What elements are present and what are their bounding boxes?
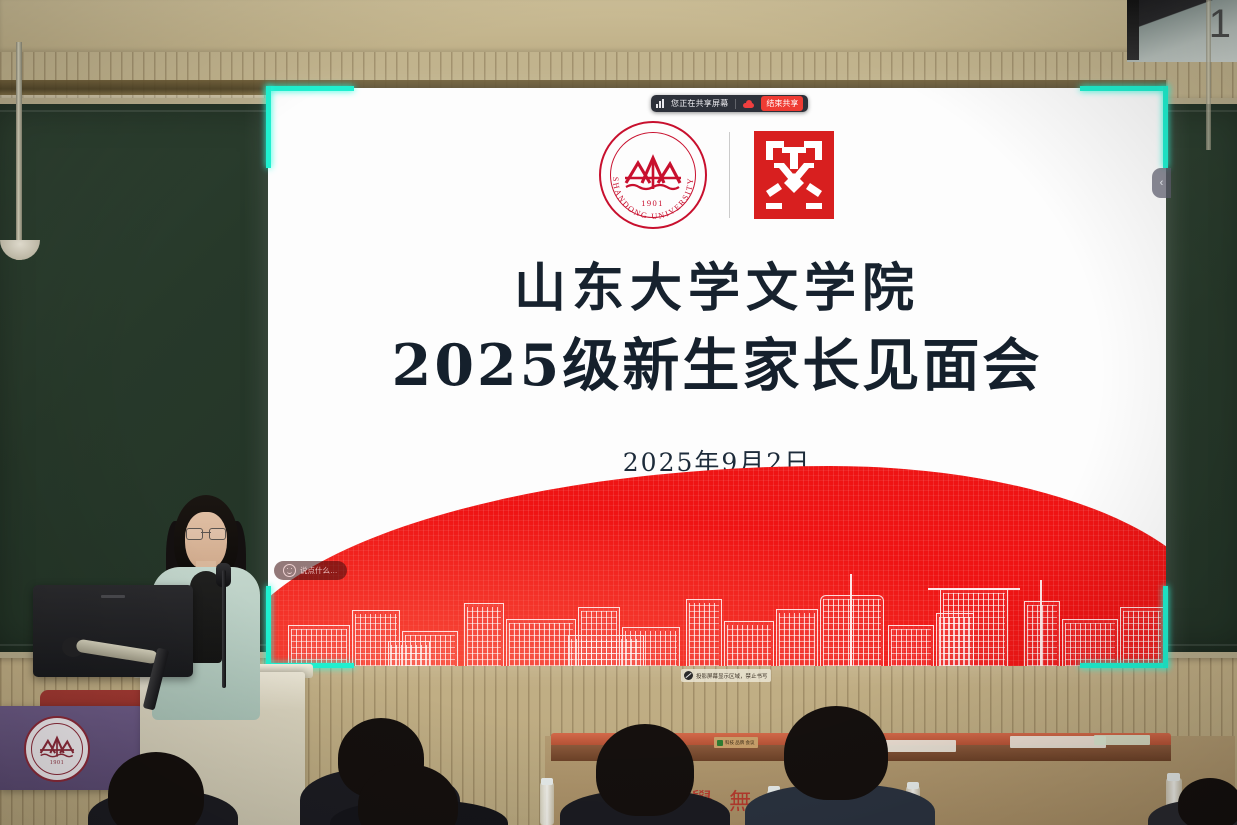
room-number: 1 — [1209, 4, 1231, 44]
bottle-cap — [907, 782, 919, 789]
red-seal-stamp-icon — [752, 129, 836, 221]
microphone-stem — [222, 570, 226, 688]
audience-head — [1178, 778, 1237, 825]
desk-label-text: 科技 品牌 会议 — [725, 740, 755, 746]
ceiling-strip — [1127, 0, 1139, 60]
audience-head — [596, 724, 694, 816]
projection-area-warning: 投影屏幕显示区域，禁止书写 — [681, 669, 771, 682]
desk-brand-label: 科技 品牌 会议 — [714, 737, 758, 748]
logo-divider — [729, 132, 730, 218]
end-share-button[interactable]: 结束共享 — [761, 96, 803, 111]
slide-title-line2: 2025级新生家长见面会 — [268, 329, 1166, 403]
glasses-icon — [186, 528, 226, 538]
bottle-cap — [541, 778, 553, 785]
document-paper — [1010, 736, 1106, 748]
no-writing-icon — [684, 671, 693, 680]
city-skyline-illustration — [268, 548, 1166, 666]
chevron-left-icon: ‹ — [1160, 178, 1164, 189]
panel-collapse-button[interactable]: ‹ — [1152, 168, 1171, 198]
shandong-university-seal-icon: SHANDONG UNIVERSITY 1901 — [599, 121, 707, 229]
desk-label-logo-icon — [717, 740, 723, 746]
ceiling-lamp-pole-right — [1206, 0, 1211, 150]
document-paper — [1094, 735, 1150, 745]
monitor-brand-mark — [101, 595, 125, 598]
toolbar-divider — [735, 99, 736, 109]
lectern-seal-year: 1901 — [50, 760, 64, 766]
audience-head — [784, 706, 888, 800]
signal-bars-icon — [656, 99, 664, 108]
water-bottle — [540, 782, 554, 825]
smiley-icon[interactable] — [283, 564, 296, 577]
presentation-slide: SHANDONG UNIVERSITY 1901 — [268, 88, 1166, 666]
comment-placeholder: 说点什么… — [300, 565, 338, 576]
lectern-university-seal-icon: 1901 — [24, 716, 90, 782]
ceiling-lamp-pole — [16, 42, 22, 260]
slide-title-line1: 山东大学文学院 — [268, 256, 1166, 323]
projection-warning-text: 投影屏幕显示区域，禁止书写 — [696, 672, 768, 680]
wall-upper-band — [0, 0, 1237, 52]
projection-screen: SHANDONG UNIVERSITY 1901 — [268, 88, 1166, 666]
bottle-cap — [1167, 773, 1180, 781]
lecture-hall-scene: 1 SHANDONG UNIVERSITY — [0, 0, 1237, 825]
seal-year: 1901 — [641, 198, 664, 208]
share-status-label: 您正在共享屏幕 — [671, 98, 728, 109]
comment-input[interactable]: 说点什么… — [274, 561, 347, 580]
podium-monitor — [33, 585, 193, 677]
screen-share-toolbar[interactable]: 您正在共享屏幕 结束共享 — [651, 95, 808, 112]
seal-mountain-water-icon — [620, 153, 686, 193]
slide-logo-row: SHANDONG UNIVERSITY 1901 — [268, 116, 1166, 234]
cloud-icon[interactable] — [743, 100, 754, 108]
